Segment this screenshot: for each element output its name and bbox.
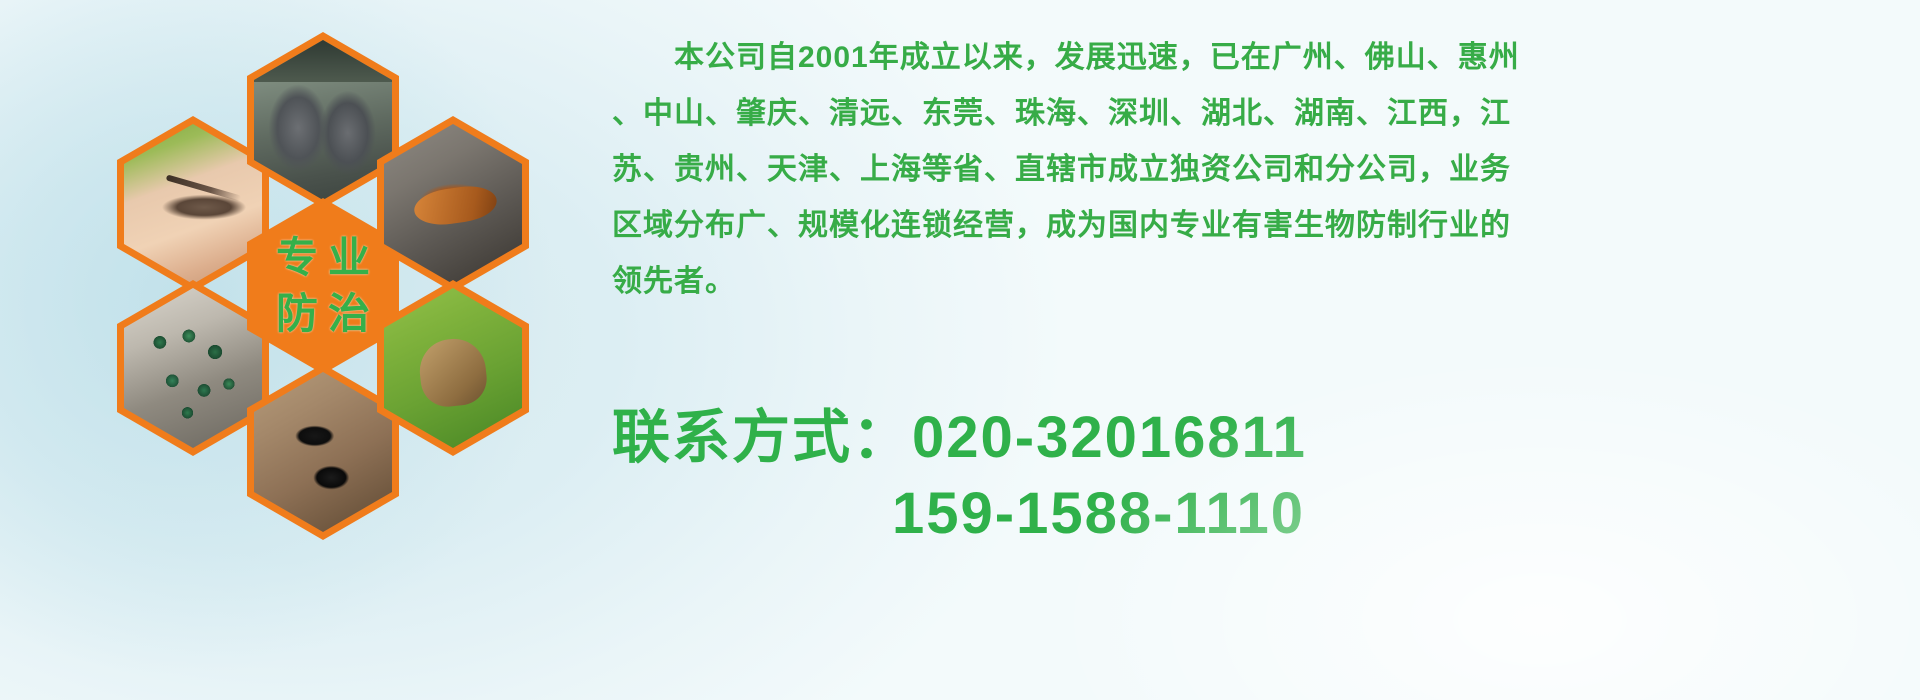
hex-photo-stinkbug-inner (384, 288, 522, 448)
company-intro-paragraph: 本公司自2001年成立以来，发展迅速，已在广州、佛山、惠州 、中山、肇庆、清远、… (612, 30, 1862, 310)
hex-photo-rats (247, 32, 399, 208)
promo-banner: 专业 防治 本公司自2001年成立以来，发展迅速，已在广州、佛山、惠州 、中山、… (0, 0, 1920, 700)
ants-image (254, 372, 392, 532)
intro-line-1: 本公司自2001年成立以来，发展迅速，已在广州、佛山、惠州 (612, 30, 1862, 86)
hex-photo-cockroach-inner (384, 124, 522, 284)
hex-photo-rats-inner (254, 40, 392, 200)
intro-line-2: 、中山、肇庆、清远、东莞、珠海、深圳、湖北、湖南、江西，江 (612, 86, 1862, 142)
hex-photo-mosquito (117, 116, 269, 292)
flies-image (124, 288, 262, 448)
contact-block: 联系方式：020-32016811 159-1588-1110 (612, 400, 1892, 552)
hex-photo-mosquito-inner (124, 124, 262, 284)
hex-photo-cockroach (377, 116, 529, 292)
hex-photo-flies-inner (124, 288, 262, 448)
contact-phone-primary[interactable]: 联系方式：020-32016811 (612, 400, 1892, 476)
badge-line-1: 专业 (266, 237, 380, 279)
badge-line-2: 防治 (266, 293, 380, 335)
intro-line-3: 苏、贵州、天津、上海等省、直辖市成立独资公司和分公司，业务 (612, 142, 1862, 198)
honeycomb-cluster: 专业 防治 (95, 8, 595, 568)
mosquito-image (124, 124, 262, 284)
hex-photo-ants-inner (254, 372, 392, 532)
rats-image (254, 40, 392, 200)
hex-photo-stinkbug (377, 280, 529, 456)
hex-center-badge: 专业 防治 (247, 198, 399, 374)
intro-line-5: 领先者。 (612, 254, 1862, 310)
intro-line-4: 区域分布广、规模化连锁经营，成为国内专业有害生物防制行业的 (612, 198, 1862, 254)
hex-photo-flies (117, 280, 269, 456)
stinkbug-image (384, 288, 522, 448)
contact-phone-secondary[interactable]: 159-1588-1110 (612, 476, 1892, 552)
cockroach-image (384, 124, 522, 284)
hex-photo-ants (247, 364, 399, 540)
